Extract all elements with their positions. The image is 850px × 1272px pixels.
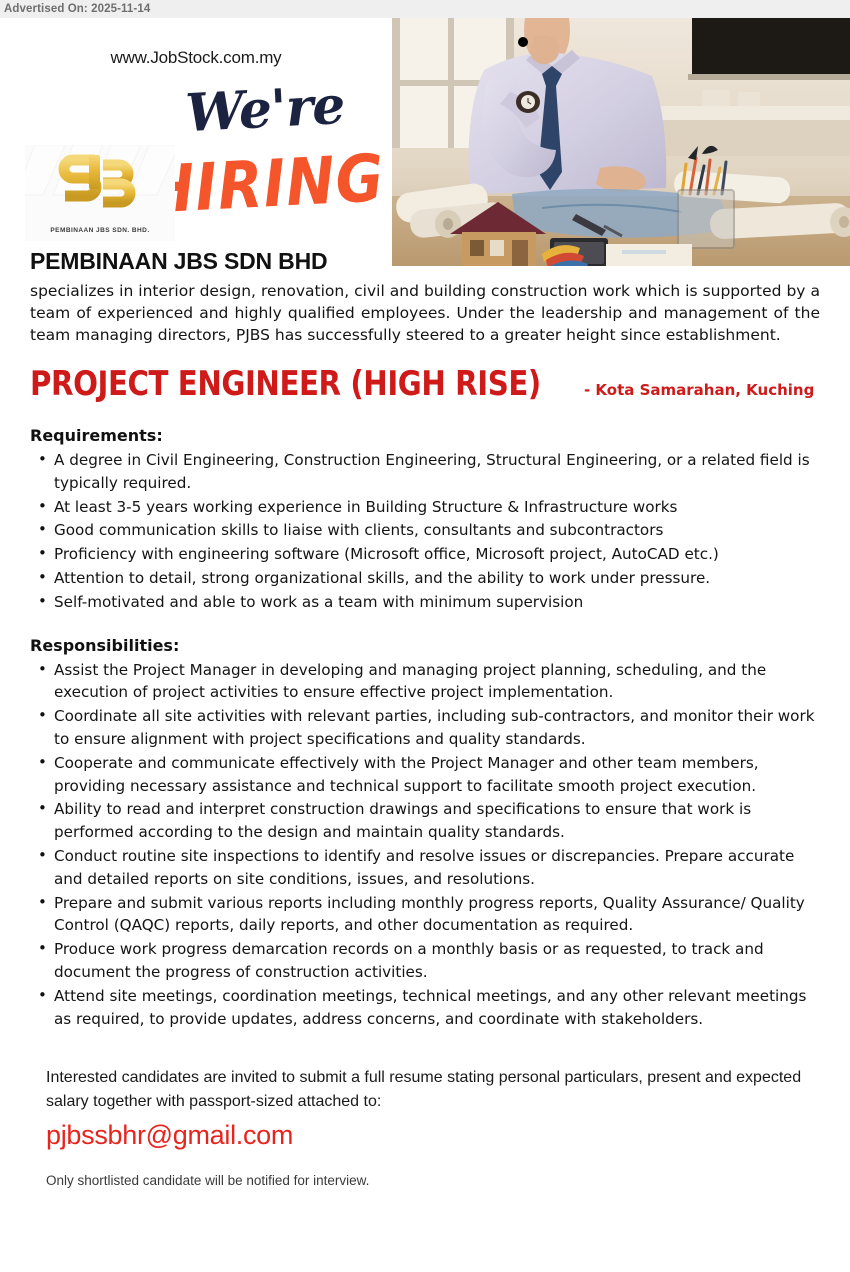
job-content: PEMBINAAN JBS SDN BHD specializes in int… <box>0 266 850 1188</box>
hero-banner: www.JobStock.com.my We're HIRING <box>0 18 850 266</box>
requirements-heading: Requirements: <box>30 426 820 445</box>
company-description: specializes in interior design, renovati… <box>30 280 820 346</box>
responsibilities-list: Assist the Project Manager in developing… <box>30 659 820 1031</box>
responsibilities-heading: Responsibilities: <box>30 636 820 655</box>
advertised-on-label: Advertised On: 2025-11-14 <box>0 3 150 15</box>
hero-photo <box>392 18 850 266</box>
list-item: Attend site meetings, coordination meeti… <box>30 985 820 1031</box>
list-item: Assist the Project Manager in developing… <box>30 659 820 705</box>
requirements-list: A degree in Civil Engineering, Construct… <box>30 449 820 614</box>
list-item: Ability to read and interpret constructi… <box>30 798 820 844</box>
list-item: Prepare and submit various reports inclu… <box>30 892 820 938</box>
site-url-text: www.JobStock.com.my <box>0 48 392 68</box>
list-item: Good communication skills to liaise with… <box>30 519 820 542</box>
list-item: Attention to detail, strong organization… <box>30 567 820 590</box>
job-location: - Kota Samarahan, Kuching <box>584 381 814 399</box>
hero-left-panel: www.JobStock.com.my We're HIRING <box>0 18 392 266</box>
job-title-row: PROJECT ENGINEER (HIGH RISE) - Kota Sama… <box>30 364 820 404</box>
were-script-text: We're <box>149 78 381 142</box>
closing-instructions: Interested candidates are invited to sub… <box>30 1066 820 1112</box>
list-item: Coordinate all site activities with rele… <box>30 705 820 751</box>
jbs-monogram-icon <box>53 153 145 215</box>
job-advertisement-page: Advertised On: 2025-11-14 www.JobStock.c… <box>0 0 850 1272</box>
list-item: At least 3-5 years working experience in… <box>30 496 820 519</box>
list-item: Self-motivated and able to work as a tea… <box>30 591 820 614</box>
logo-caption: PEMBINAAN JBS SDN. BHD. <box>25 227 175 234</box>
list-item: Cooperate and communicate effectively wi… <box>30 752 820 798</box>
list-item: Produce work progress demarcation record… <box>30 938 820 984</box>
list-item: Conduct routine site inspections to iden… <box>30 845 820 891</box>
list-item: A degree in Civil Engineering, Construct… <box>30 449 820 495</box>
application-email[interactable]: pjbssbhr@gmail.com <box>30 1120 820 1151</box>
company-logo: PEMBINAAN JBS SDN. BHD. <box>25 145 175 241</box>
advertised-on-bar: Advertised On: 2025-11-14 <box>0 0 850 18</box>
job-title: PROJECT ENGINEER (HIGH RISE) <box>30 364 541 404</box>
shortlist-note: Only shortlisted candidate will be notif… <box>30 1173 820 1188</box>
hiring-text: HIRING <box>143 145 386 222</box>
company-name: PEMBINAAN JBS SDN BHD <box>30 248 820 275</box>
list-item: Proficiency with engineering software (M… <box>30 543 820 566</box>
